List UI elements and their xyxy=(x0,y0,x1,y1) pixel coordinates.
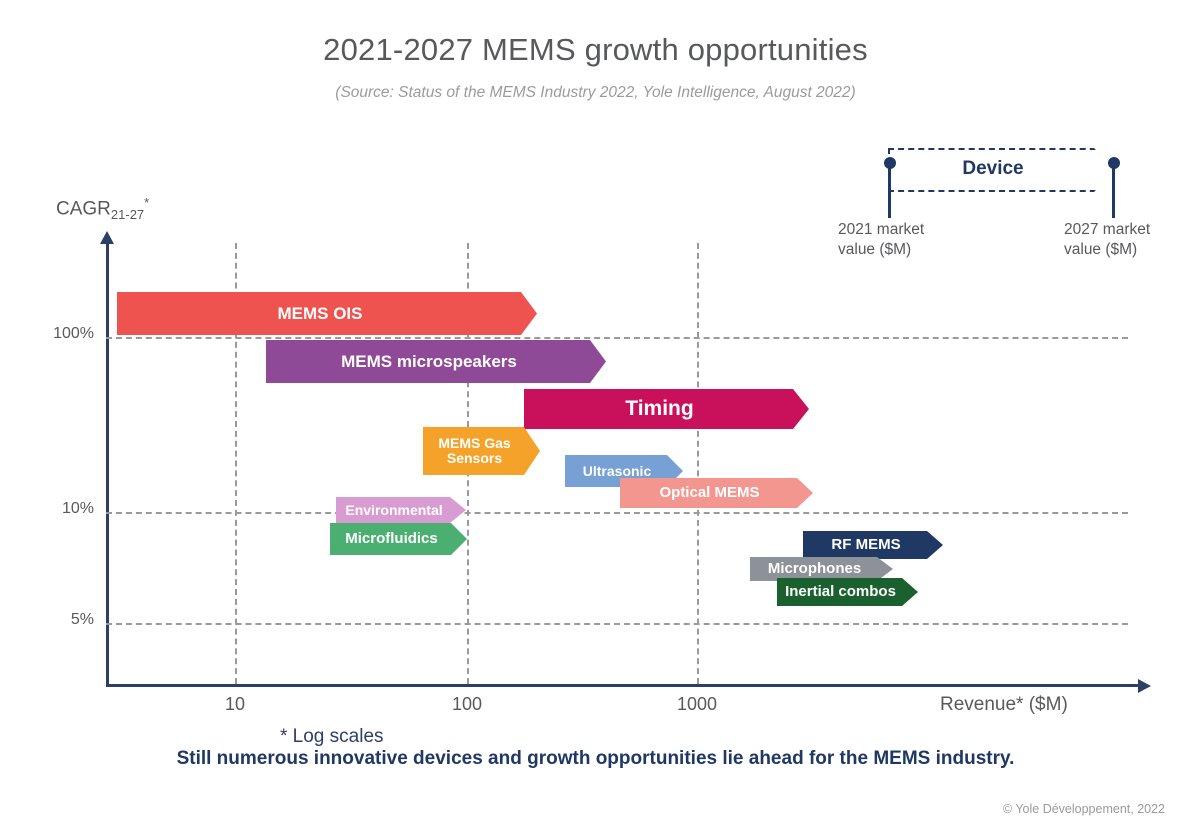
data-arrow-optical-mems: Optical MEMS xyxy=(620,478,813,508)
legend-caption-2021: 2021 market value ($M) xyxy=(838,220,968,260)
y-axis-label-sup: * xyxy=(144,195,149,210)
y-axis-label: CAGR21-27* xyxy=(56,195,149,222)
legend-device-label: Device xyxy=(888,158,1098,180)
y-axis-tick-label: 100% xyxy=(34,325,94,343)
legend: Device 2021 market value ($M) 2027 marke… xyxy=(880,140,1130,245)
log-scales-note: * Log scales xyxy=(280,726,384,748)
data-arrow-rf-mems: RF MEMS xyxy=(803,531,943,559)
chart-caption: Still numerous innovative devices and gr… xyxy=(0,748,1191,770)
x-axis-arrowhead-icon xyxy=(1138,679,1151,693)
data-arrow-microphones: Microphones xyxy=(750,557,893,581)
y-axis-label-sub: 21-27 xyxy=(111,207,144,222)
chart-canvas: 2021-2027 MEMS growth opportunities (Sou… xyxy=(0,0,1191,834)
y-axis-tick-label: 10% xyxy=(34,500,94,518)
x-axis-tick-label: 1000 xyxy=(657,694,737,715)
h-gridline xyxy=(106,623,1128,625)
page-subtitle: (Source: Status of the MEMS Industry 202… xyxy=(0,84,1191,102)
x-axis-line xyxy=(106,684,1142,687)
y-axis-tick-label: 5% xyxy=(34,611,94,629)
data-arrow-mems-gas-sensors: MEMS Gas Sensors xyxy=(423,427,540,475)
data-arrow-mems-microspeakers: MEMS microspeakers xyxy=(266,340,606,383)
legend-pin-2021-icon xyxy=(888,162,891,218)
y-axis-line xyxy=(106,243,109,686)
v-gridline xyxy=(697,243,699,684)
x-axis-label: Revenue* ($M) xyxy=(940,694,1068,716)
x-axis-tick-label: 10 xyxy=(195,694,275,715)
data-arrow-mems-ois: MEMS OIS xyxy=(117,292,537,335)
x-axis-tick-label: 100 xyxy=(427,694,507,715)
data-arrow-microfluidics: Microfluidics xyxy=(330,523,467,555)
h-gridline xyxy=(106,337,1128,339)
legend-caption-2027: 2027 market value ($M) xyxy=(1064,220,1191,260)
page-title: 2021-2027 MEMS growth opportunities xyxy=(0,32,1191,68)
y-axis-arrowhead-icon xyxy=(100,231,114,244)
y-axis-label-base: CAGR xyxy=(56,198,111,219)
copyright-note: © Yole Développement, 2022 xyxy=(1003,802,1165,816)
legend-pin-2027-icon xyxy=(1112,162,1115,218)
h-gridline xyxy=(106,512,1128,514)
data-arrow-inertial-combos: Inertial combos xyxy=(777,578,918,606)
data-arrow-environmental: Environmental xyxy=(336,497,466,523)
data-arrow-timing: Timing xyxy=(524,389,809,429)
